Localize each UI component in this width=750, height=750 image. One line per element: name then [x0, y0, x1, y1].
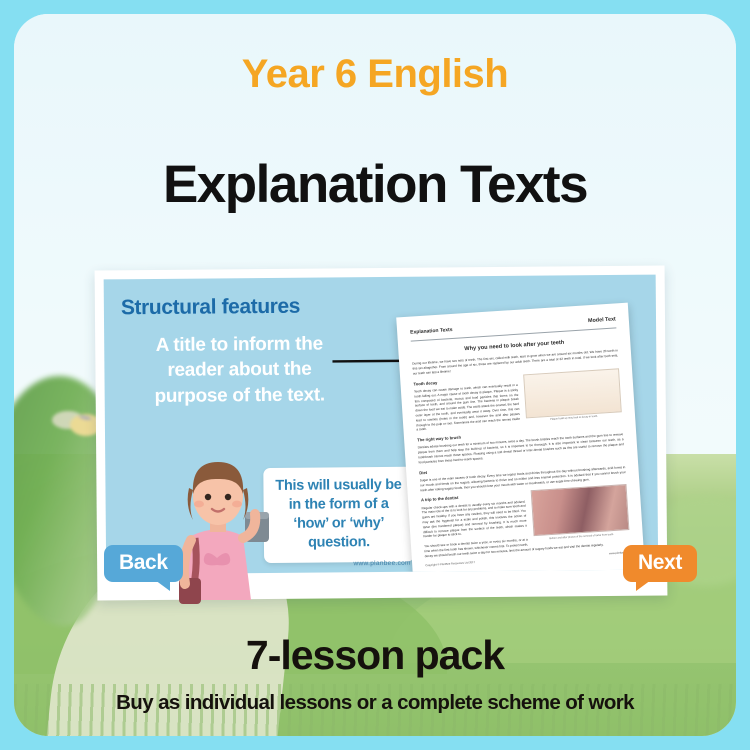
pack-title: 7-lesson pack [14, 632, 736, 679]
dentist-photo-image [531, 484, 630, 536]
pack-subcopy: Buy as individual lessons or a complete … [14, 691, 736, 715]
product-card-root: Year 6 English Explanation Texts Structu… [0, 0, 750, 750]
model-text-document[interactable]: Explanation Texts Model Text Why you nee… [396, 303, 646, 575]
figure-teeth-decay: Plaque build-up may lead to decay in tee… [523, 368, 622, 423]
slide-annotation-text: A title to inform the reader about the p… [134, 331, 345, 409]
page-title: Explanation Texts [14, 154, 736, 215]
teeth-decay-image [523, 368, 622, 418]
girl-illustration [161, 454, 286, 604]
figure-dentist: Before and after photos of the removal o… [531, 484, 630, 541]
card-surface: Year 6 English Explanation Texts Structu… [14, 14, 736, 736]
slide-title: Structural features [121, 295, 300, 321]
back-button[interactable]: Back [104, 545, 183, 582]
next-button[interactable]: Next [623, 545, 697, 582]
page-eyebrow: Year 6 English [14, 52, 736, 97]
document-header-right: Model Text [588, 315, 616, 325]
document-header-left: Explanation Texts [410, 327, 453, 337]
